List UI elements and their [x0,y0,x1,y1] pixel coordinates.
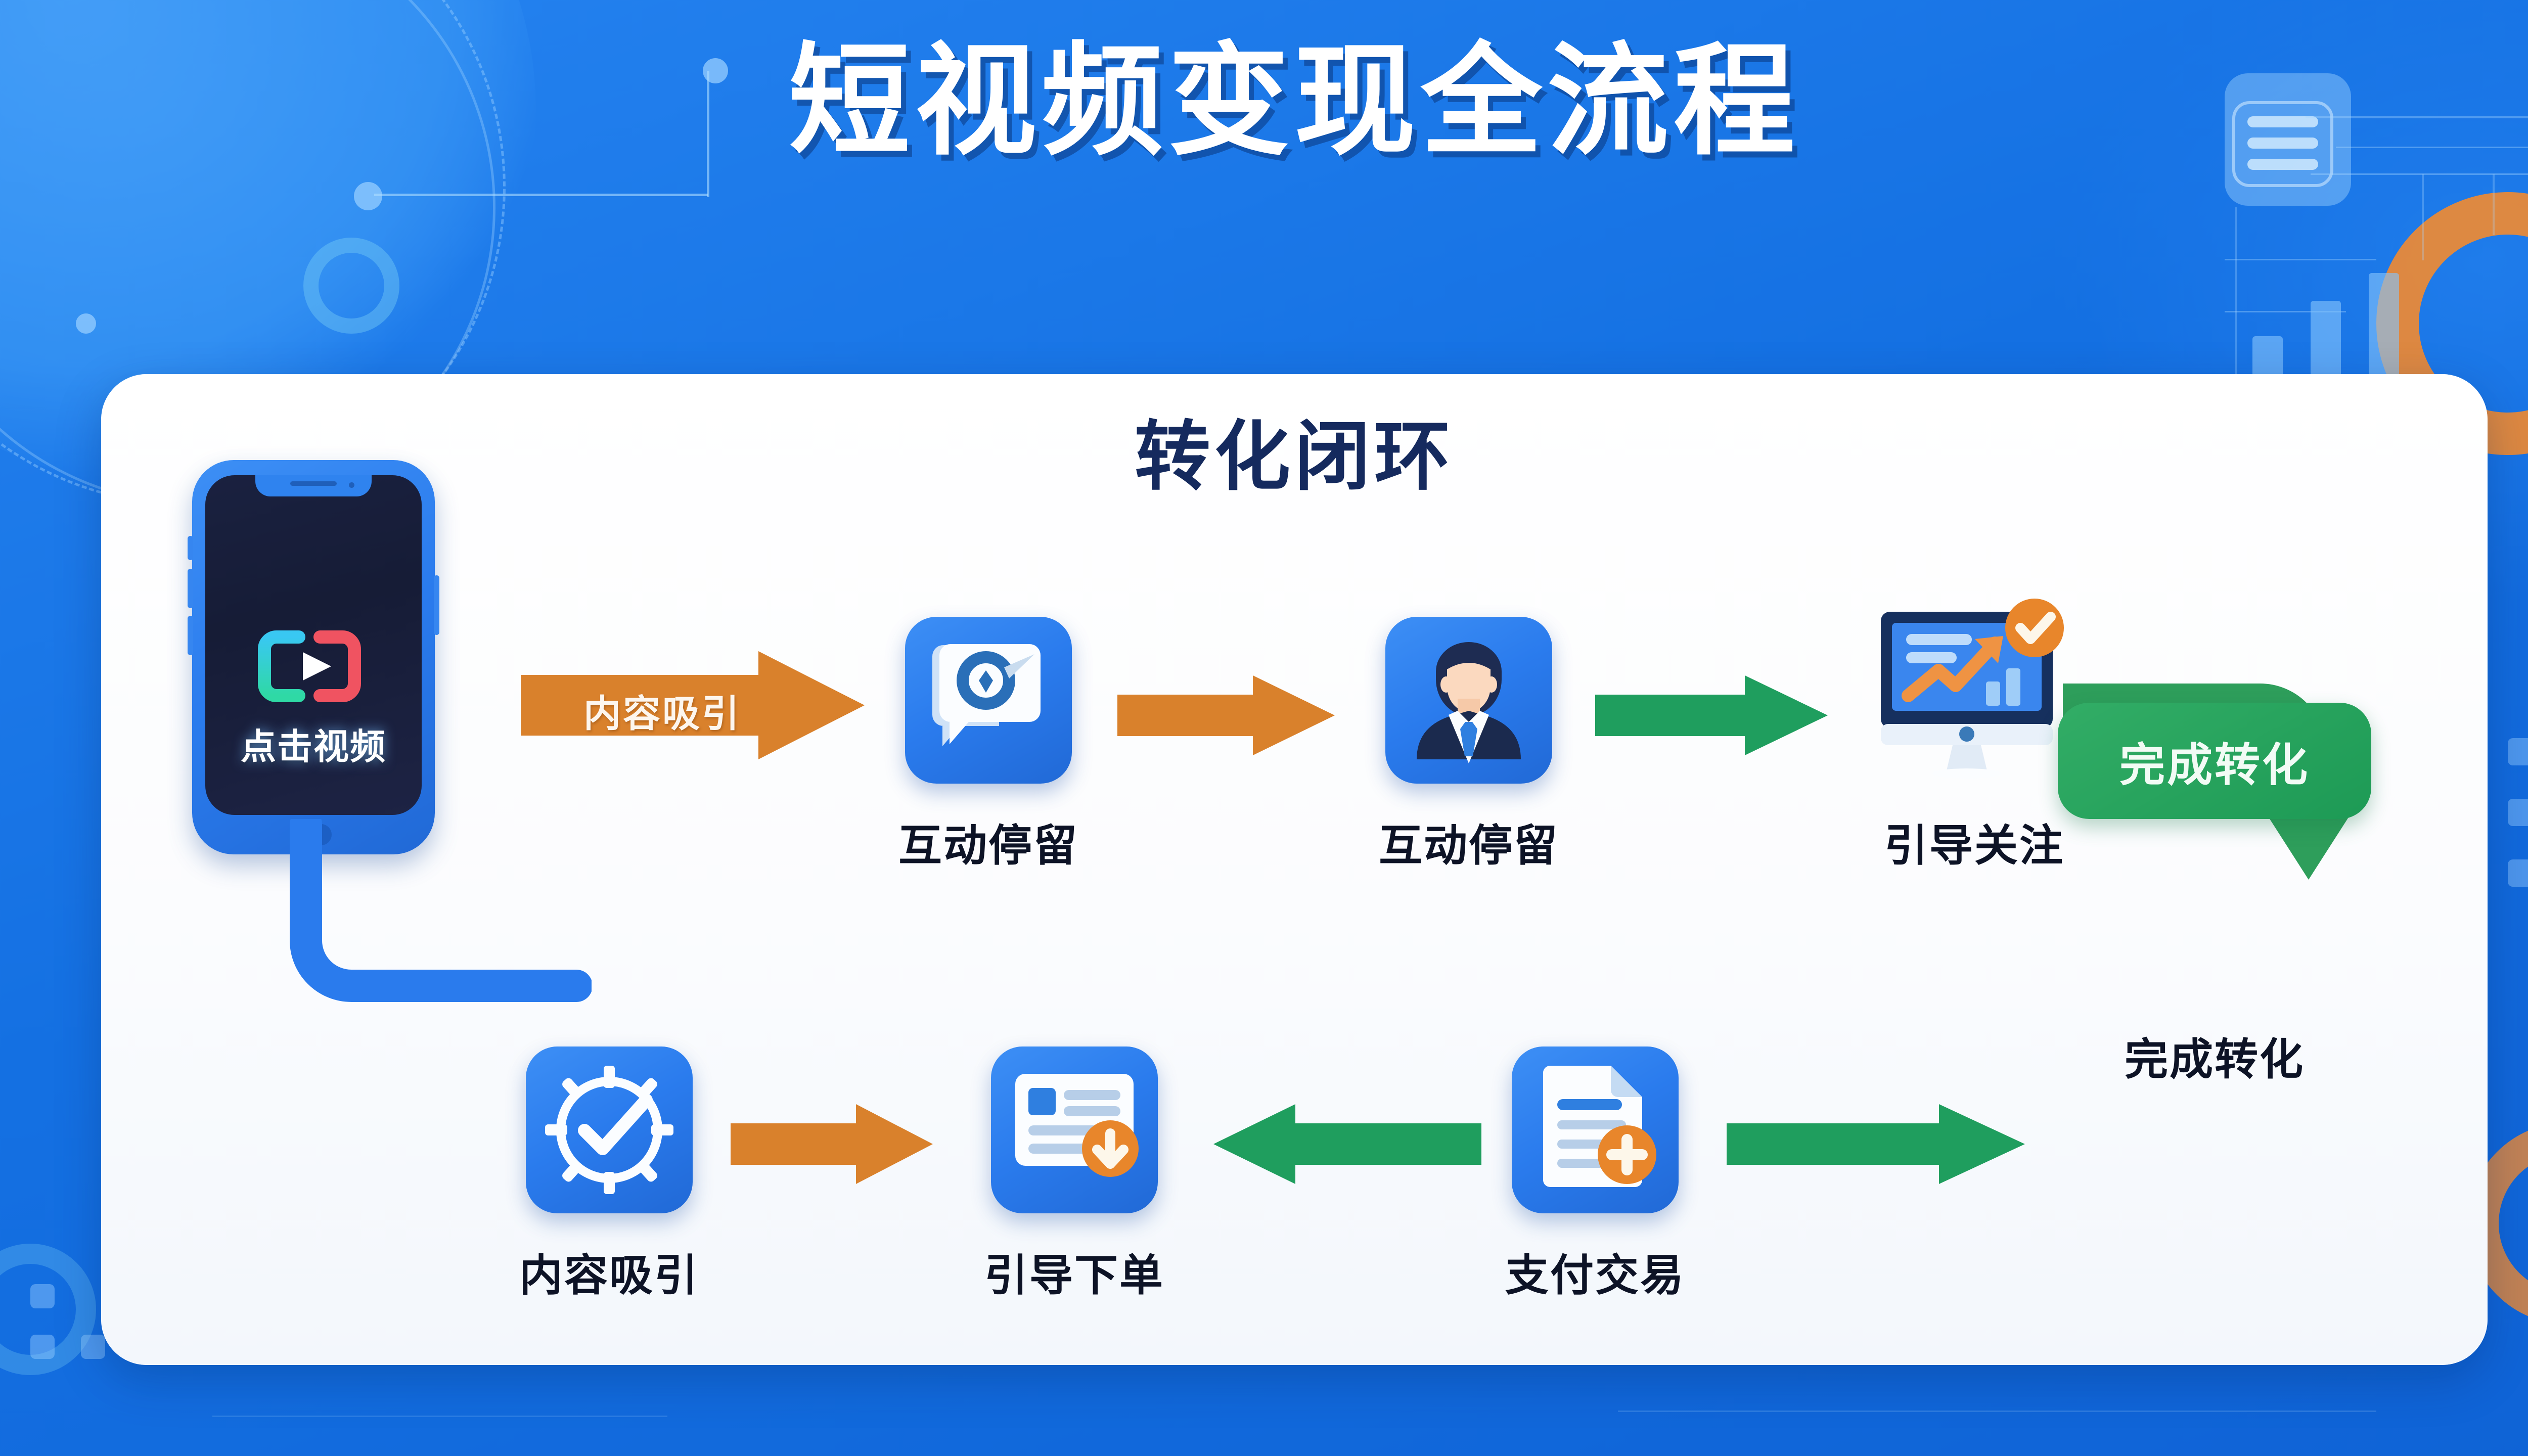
tile-label-interact-stay-1: 互动停留 [847,810,1130,873]
content-attract-arrow-label: 内容吸引 [490,684,834,738]
phone-screen: 点击视频 [205,475,422,815]
background-hline [212,1416,667,1417]
tile-interact-stay-2[interactable] [1385,617,1552,784]
background-hline [2311,173,2528,175]
background-vline [2422,174,2424,260]
document-plus-icon [1512,1046,1679,1213]
tile-interact-stay-1[interactable] [905,617,1072,784]
interact-to-person-arrow [1117,672,1335,758]
person-to-monitor-arrow [1595,672,1828,758]
background-circle-outline [303,238,399,334]
phone-to-bottom-connector [268,819,592,1021]
target-clock-check-icon [526,1046,693,1213]
background-vline [2235,207,2237,374]
background-dot [354,182,382,210]
tile-label-complete-conversion: 完成转化 [2073,1024,2356,1087]
background-hline [2225,259,2376,260]
tile-label-guide-order: 引导下单 [933,1240,1216,1303]
tile-guide-order[interactable] [991,1046,1158,1213]
phone-speaker [290,481,337,486]
tile-content-attract[interactable] [526,1046,693,1213]
background-node-line [374,194,708,196]
attract-to-order-arrow [731,1101,933,1187]
background-square [2508,799,2528,826]
payment-to-order-arrow [1213,1101,1481,1187]
background-square [2508,738,2528,765]
phone-notch [255,475,372,496]
tile-label-interact-stay-2: 互动停留 [1327,810,1610,873]
phone-front-camera-icon [349,482,354,488]
page-title: 短视频变现全流程 [0,40,2528,162]
phone-volume-up-button [188,569,193,608]
background-dot [76,313,96,334]
phone-mockup[interactable]: 点击视频 [192,460,435,854]
background-square [2508,859,2528,887]
phone-overlay-label: 点击视频 [205,718,422,769]
phone-power-button [434,575,439,635]
background-vline [2493,174,2495,235]
tile-guide-follow[interactable] [1871,597,2083,799]
panel-subtitle: 转化闭环 [101,419,2488,494]
pill-to-payment-arrow [1727,1101,2025,1187]
phone-volume-down-button [188,616,193,655]
main-panel: 转化闭环 点击视频 [101,374,2488,1365]
complete-conversion-pill[interactable]: 完成转化 [2058,703,2371,819]
card-list-icon [991,1046,1158,1213]
business-person-icon [1385,617,1552,784]
tile-label-content-attract: 内容吸引 [468,1240,751,1303]
complete-conversion-pill-label: 完成转化 [2119,728,2310,794]
chat-bubble-eye-icon [905,617,1072,784]
background-hline [1618,1410,2376,1412]
background-square [30,1335,55,1359]
content-attract-arrow: 内容吸引 [521,647,865,763]
video-play-logo-icon [250,626,377,707]
background-square [30,1284,55,1308]
tile-label-payment-transaction: 支付交易 [1454,1240,1737,1303]
monitor-growth-chart-icon [1871,597,2083,799]
phone-side-button [188,536,193,560]
tile-payment-transaction[interactable] [1512,1046,1679,1213]
